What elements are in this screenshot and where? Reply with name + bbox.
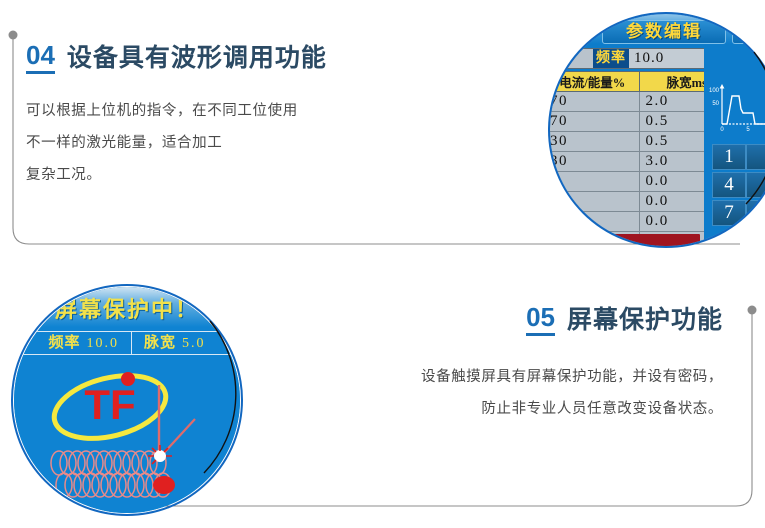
parameter-screen-title-button-2[interactable] xyxy=(732,20,765,44)
cell-current[interactable]: 0 xyxy=(550,192,640,212)
x-tick-5: 5 xyxy=(746,127,750,133)
screensaver-photo: 屏幕保护中！ 频率 10.0 脉宽 5.0 TF xyxy=(14,287,240,513)
panel-04-number: 04 xyxy=(26,42,55,74)
weld-spot-lower xyxy=(153,476,175,494)
cell-current[interactable] xyxy=(550,212,640,232)
waveform-chart: 100 50 0 5 10 xyxy=(706,82,765,134)
keypad-key-5[interactable]: 5 xyxy=(746,172,765,198)
parameter-screen-photo: 参数编辑 频率 10.0 电流/能量% 脉宽ms 70 2.0 xyxy=(550,14,765,246)
frequency-row-spacer xyxy=(550,49,593,68)
cell-current[interactable]: 70 xyxy=(550,92,640,112)
panel-04-title: 设备具有波形调用功能 xyxy=(67,45,327,75)
panel-05-text-block: 05 屏幕保护功能 设备触摸屏具有屏幕保护功能，并设有密码， 防止非专业人员任意… xyxy=(273,304,723,426)
numeric-keypad[interactable]: 12 45 78 xyxy=(712,144,765,228)
panel-04-body-line-1: 可以根据上位机的指令，在不同工位使用 xyxy=(26,96,466,128)
pulsewidth-label: 脉宽 xyxy=(144,332,176,354)
y-tick-50: 50 xyxy=(712,101,719,107)
info-cell-frequency: 频率 10.0 xyxy=(36,332,131,354)
panel-05-number: 05 xyxy=(526,304,555,336)
panel-05-title: 屏幕保护功能 xyxy=(567,307,723,337)
keypad-key-2[interactable]: 2 xyxy=(746,144,765,170)
keypad-key-4[interactable]: 4 xyxy=(712,172,746,198)
x-tick-0: 0 xyxy=(720,127,724,133)
frequency-label: 频率 xyxy=(593,49,629,68)
cell-current[interactable]: 0 xyxy=(550,172,640,192)
screensaver-screen: 屏幕保护中！ 频率 10.0 脉宽 5.0 TF xyxy=(14,287,240,513)
y-tick-100: 100 xyxy=(709,88,720,94)
info-cell-pulsewidth: 脉宽 5.0 xyxy=(131,332,218,354)
panel-04-text-block: 04 设备具有波形调用功能 可以根据上位机的指令，在不同工位使用 不一样的激光能… xyxy=(26,42,466,192)
frequency-value: 10.0 xyxy=(87,333,120,355)
feature-panel-04: 04 设备具有波形调用功能 可以根据上位机的指令，在不同工位使用 不一样的激光能… xyxy=(0,0,765,264)
parameter-screen-status-bar xyxy=(570,234,700,246)
screensaver-artwork: TF xyxy=(14,357,240,513)
cell-current[interactable]: 30 xyxy=(550,152,640,172)
parameter-screen-title: 参数编辑 xyxy=(602,20,726,44)
col-header-current: 电流/能量% xyxy=(550,72,640,92)
panel-05-headline: 05 屏幕保护功能 xyxy=(273,304,723,336)
keypad-key-1[interactable]: 1 xyxy=(712,144,746,170)
frequency-row: 频率 10.0 xyxy=(550,48,730,69)
pulsewidth-value: 5.0 xyxy=(182,333,206,355)
waveform-trace xyxy=(722,96,765,124)
panel-04-headline: 04 设备具有波形调用功能 xyxy=(26,42,466,74)
cell-current[interactable]: 30 xyxy=(550,132,640,152)
feature-panel-05: 05 屏幕保护功能 设备触摸屏具有屏幕保护功能，并设有密码， 防止非专业人员任意… xyxy=(0,264,765,528)
screensaver-banner: 屏幕保护中！ xyxy=(14,292,240,324)
keypad-key-7[interactable]: 7 xyxy=(712,200,746,226)
cell-current[interactable]: 70 xyxy=(550,112,640,132)
parameter-editor-screen: 参数编辑 频率 10.0 电流/能量% 脉宽ms 70 2.0 xyxy=(550,14,765,246)
screensaver-info-bar: 频率 10.0 脉宽 5.0 xyxy=(14,331,240,355)
logo-text: TF xyxy=(84,381,135,428)
keypad-key-8[interactable]: 8 xyxy=(746,200,765,226)
panel-04-body-line-3: 复杂工况。 xyxy=(26,160,466,192)
frequency-label: 频率 xyxy=(48,332,80,354)
parameter-screen-side-column: 100 50 0 5 10 12 45 78 xyxy=(704,44,765,246)
panel-05-body-line-2: 防止非专业人员任意改变设备状态。 xyxy=(273,394,723,426)
panel-05-body-line-1: 设备触摸屏具有屏幕保护功能，并设有密码， xyxy=(273,362,723,394)
panel-04-body-line-2: 不一样的激光能量，适合加工 xyxy=(26,128,466,160)
coil-workpiece xyxy=(51,451,171,497)
